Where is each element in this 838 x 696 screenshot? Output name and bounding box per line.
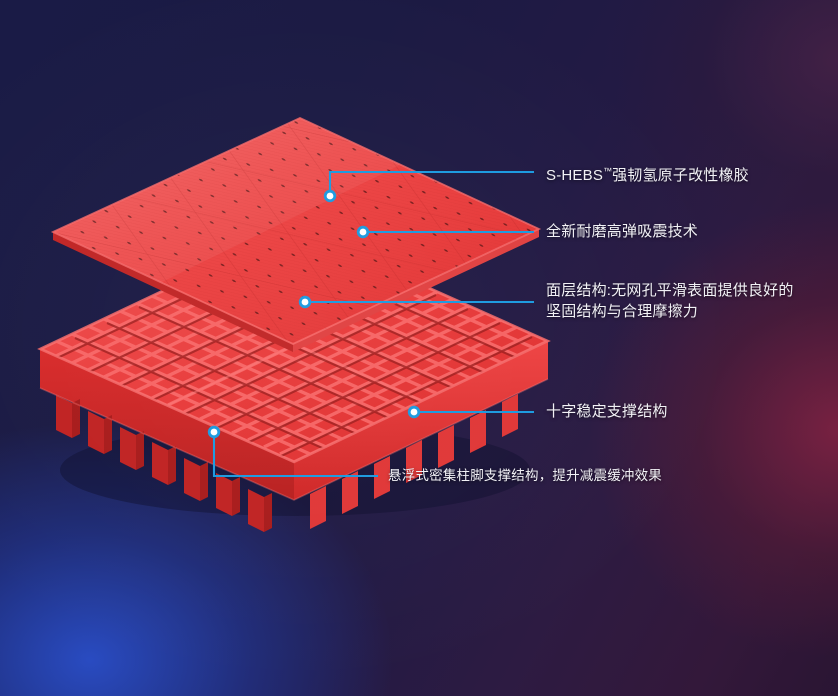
- trademark-icon: ™: [603, 166, 612, 176]
- infographic-canvas: S-HEBS™强韧氢原子改性橡胶 全新耐磨高弹吸震技术 面层结构:无网孔平滑表面…: [0, 0, 838, 696]
- callout-dot-4: [408, 406, 420, 418]
- callout-1-text: S-HEBS: [546, 167, 603, 184]
- callout-label-2: 全新耐磨高弹吸震技术: [546, 221, 698, 242]
- callout-1-text-cn: 强韧氢原子改性橡胶: [612, 167, 749, 184]
- callout-label-1: S-HEBS™强韧氢原子改性橡胶: [546, 161, 749, 186]
- callout-dot-2: [357, 226, 369, 238]
- callout-dot-1: [324, 190, 336, 202]
- callout-label-4: 十字稳定支撑结构: [546, 401, 668, 422]
- callout-label-3: 面层结构:无网孔平滑表面提供良好的 坚固结构与合理摩擦力: [546, 280, 794, 322]
- callout-dot-3: [299, 296, 311, 308]
- callout-label-5: 悬浮式密集柱脚支撑结构，提升减震缓冲效果: [388, 466, 662, 485]
- title-block: 悬浮地板 TPES强分子弹性体材料: [0, 512, 838, 647]
- callout-dot-5: [208, 426, 220, 438]
